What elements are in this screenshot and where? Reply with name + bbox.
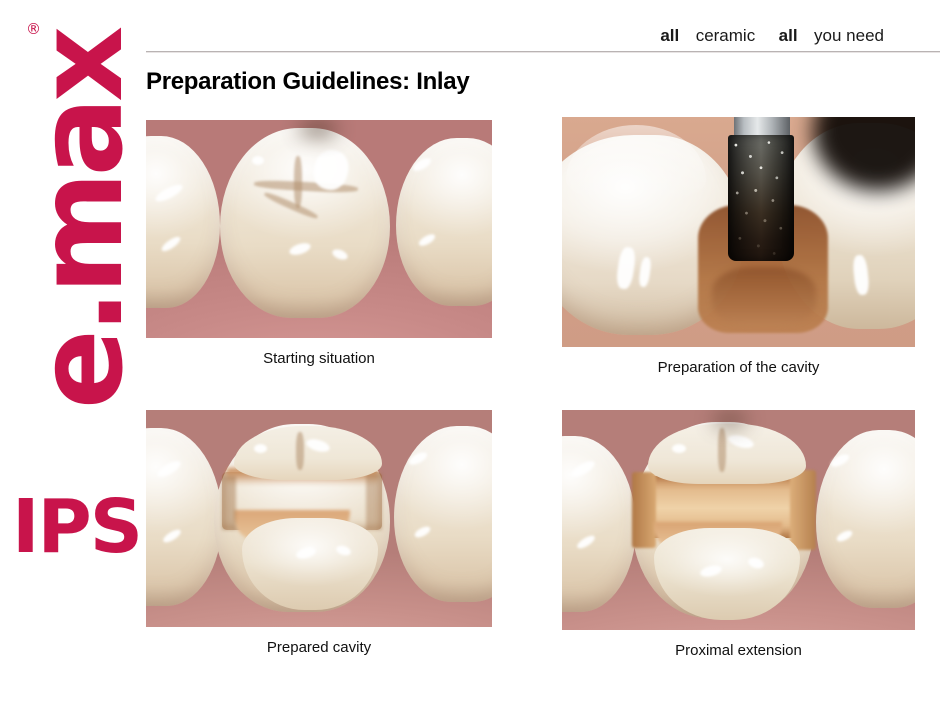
- photo-starting-situation: [146, 120, 492, 338]
- bur-grit-texture: [728, 135, 794, 261]
- photo-preparation-of-the-cavity: [562, 117, 915, 347]
- proximal-box-left: [632, 472, 656, 548]
- page-title: Preparation Guidelines: Inlay: [146, 68, 469, 96]
- photo-proximal-extension: [562, 410, 915, 630]
- figure-prepared-cavity: Prepared cavity: [146, 410, 492, 656]
- figure-caption: Preparation of the cavity: [562, 359, 915, 376]
- brand-ips-label: IPS: [12, 490, 141, 564]
- tooth-center: [220, 128, 390, 318]
- photo-prepared-cavity: [146, 410, 492, 627]
- brand-emax-label: e.max: [21, 31, 139, 410]
- occlusal-fissure: [718, 428, 726, 472]
- header-divider: [146, 51, 940, 53]
- slide-header: all ceramic all you need Preparation Gui…: [146, 0, 940, 110]
- brand-emax-wordmark: e.max: [20, 20, 140, 420]
- occlusal-stain: [298, 122, 338, 136]
- cavity-wall-right: [366, 474, 382, 530]
- highlight-spec: [254, 444, 267, 453]
- tagline-word-all-2: all: [779, 26, 798, 45]
- diamond-bur-head: [728, 135, 794, 261]
- figure-proximal-extension: Proximal extension: [562, 410, 915, 659]
- figure-caption: Prepared cavity: [146, 639, 492, 656]
- tagline-word-you-need: you need: [814, 26, 884, 45]
- highlight-spec: [672, 444, 686, 453]
- brand-sidebar: ® e.max IPS: [0, 0, 140, 705]
- cavity-wall-left: [222, 476, 236, 530]
- figure-starting-situation: Starting situation: [146, 120, 492, 367]
- figure-preparation-of-the-cavity: Preparation of the cavity: [562, 117, 915, 376]
- occlusal-stain: [712, 414, 748, 426]
- figure-caption: Proximal extension: [562, 642, 915, 659]
- tooth-left-ridge: [566, 125, 706, 203]
- cut-groove-edge: [712, 267, 816, 327]
- tagline-word-all-1: all: [660, 26, 679, 45]
- occlusal-fissure: [296, 432, 304, 470]
- tagline-word-ceramic: ceramic: [696, 26, 756, 45]
- tagline: all ceramic all you need: [660, 26, 884, 46]
- proximal-box-right: [790, 470, 816, 550]
- figure-caption: Starting situation: [146, 350, 492, 367]
- occlusal-fissure: [294, 156, 302, 208]
- highlight-spec: [252, 156, 264, 165]
